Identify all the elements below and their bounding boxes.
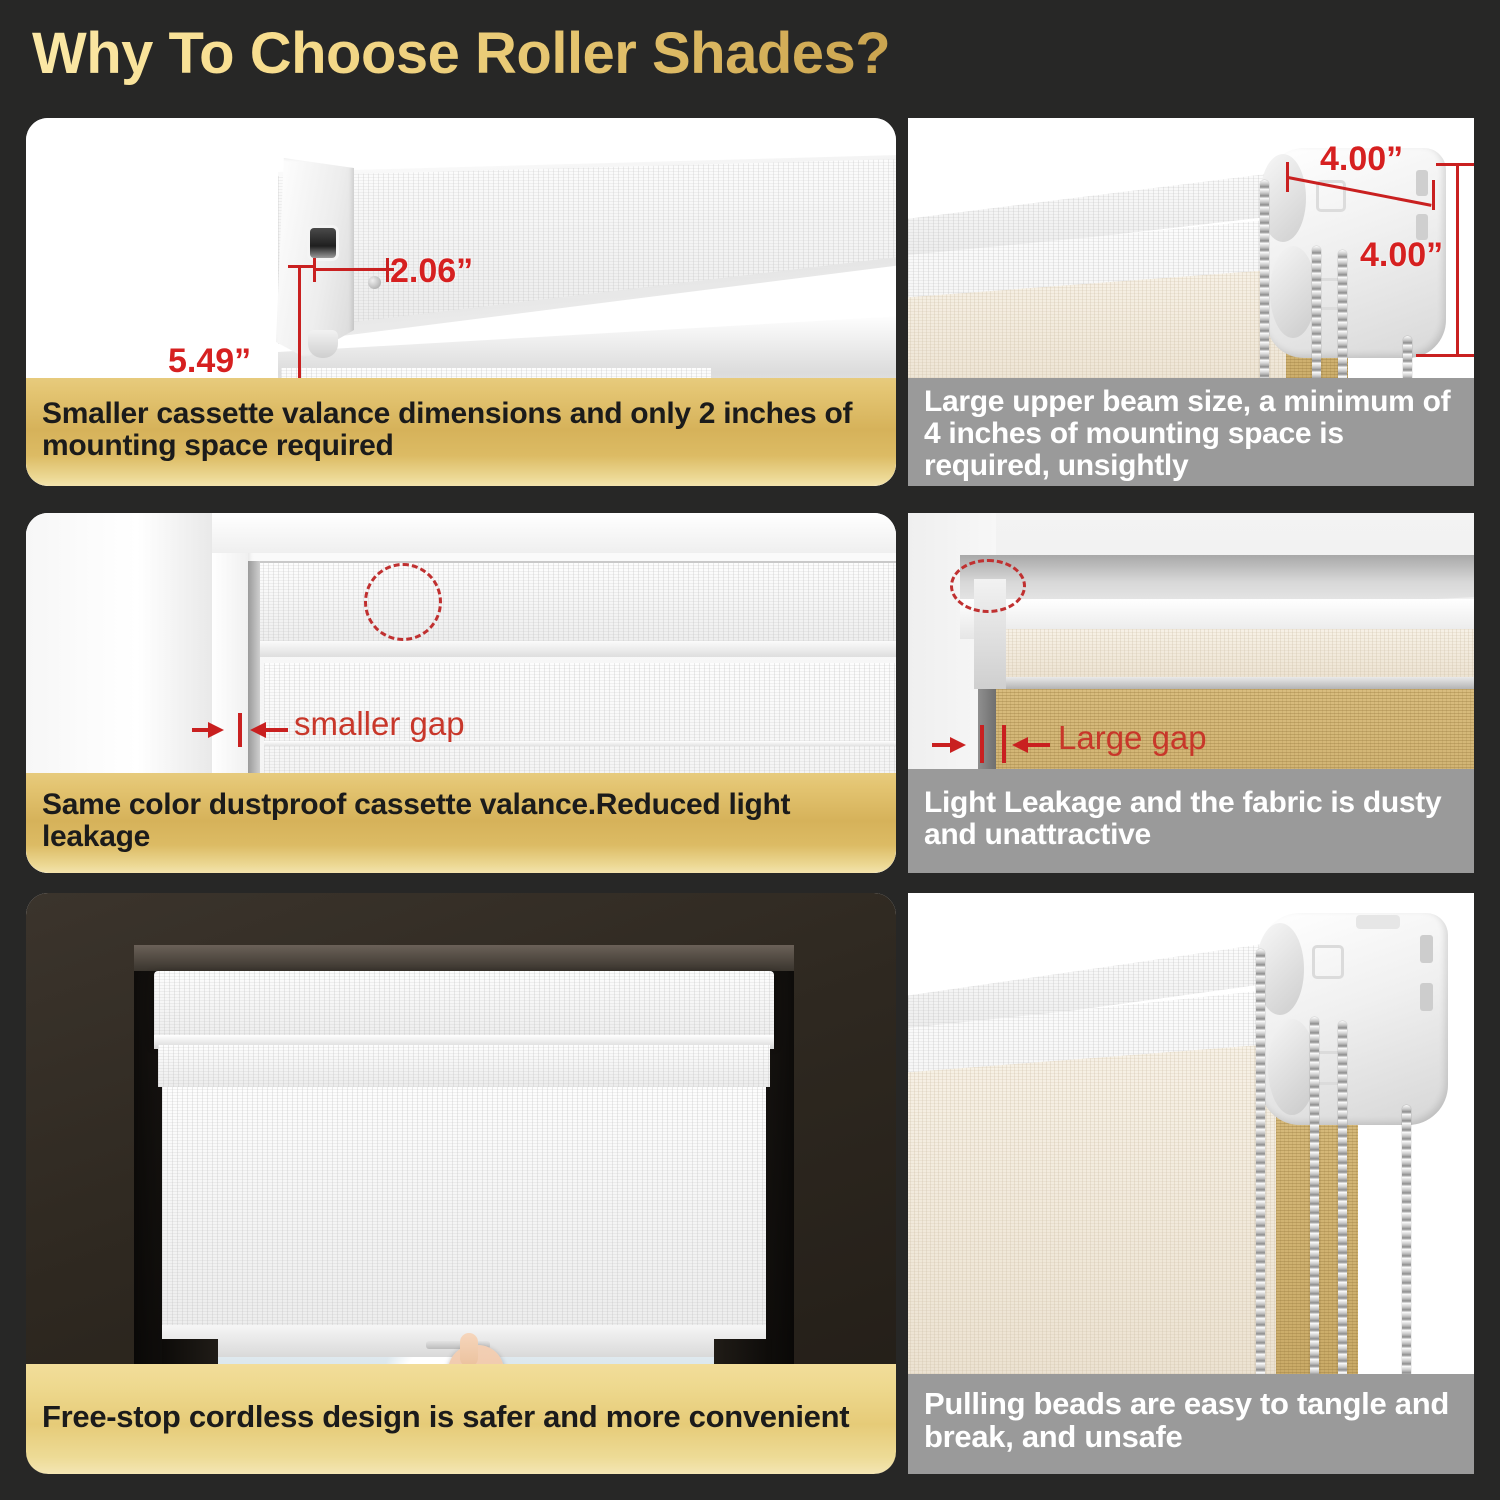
width-dimension-label: 2.06” xyxy=(390,252,473,291)
gap-bar-1 xyxy=(980,725,984,763)
end-cap-screw-icon xyxy=(368,276,381,289)
panel-dustproof-cassette-valance: smaller gap Same color dustproof cassett… xyxy=(26,513,896,873)
gap-stem-1 xyxy=(192,728,212,732)
dashed-circle-callout xyxy=(364,563,442,641)
caption-text: Smaller cassette valance dimensions and … xyxy=(42,398,882,462)
gap-callout-label: smaller gap xyxy=(294,705,465,743)
cream-fabric xyxy=(908,1043,1288,1383)
end-cap-slot-icon xyxy=(310,228,336,258)
beam-height-dim-line xyxy=(1456,164,1459,356)
infographic-page: Why To Choose Roller Shades? 2.06” xyxy=(0,0,1500,1500)
caption-text: Light Leakage and the fabric is dusty an… xyxy=(924,787,1460,851)
beam-width-tick-right xyxy=(1432,180,1435,210)
width-dim-tick-right xyxy=(386,258,389,282)
cream-band xyxy=(988,629,1474,681)
end-cap-lower-knob-icon xyxy=(308,330,338,358)
bead-chain-4 xyxy=(1402,1105,1411,1385)
gap-stem-2 xyxy=(1028,743,1050,747)
caption-large-upper-beam: Large upper beam size, a minimum of 4 in… xyxy=(908,378,1474,486)
gap-arrow-left-icon xyxy=(250,722,266,738)
caption-dustproof-cassette-valance: Same color dustproof cassette valance.Re… xyxy=(26,773,896,873)
width-dim-line xyxy=(314,268,394,271)
metal-rail xyxy=(988,677,1474,689)
cassette-valance xyxy=(258,561,896,653)
caption-text: Free-stop cordless design is safer and m… xyxy=(42,1401,849,1434)
caption-pulling-beads: Pulling beads are easy to tangle and bre… xyxy=(908,1374,1474,1474)
roller-end-lower xyxy=(1270,246,1316,338)
beam-height-tick-bottom xyxy=(1416,354,1474,357)
gap-stem-2 xyxy=(266,728,288,732)
bracket-clip-icon-upper xyxy=(1312,945,1344,979)
caption-text: Large upper beam size, a minimum of 4 in… xyxy=(924,386,1460,481)
valance-lower-band xyxy=(158,1045,770,1087)
gap-stem-1 xyxy=(932,743,954,747)
window-reveal-top xyxy=(134,945,794,971)
valance-bottom-lip xyxy=(258,641,896,657)
gap-bar-2 xyxy=(1002,725,1006,763)
beam-width-tick-left xyxy=(1286,162,1289,192)
panel-smaller-cassette-valance: 2.06” 5.49” Smaller cassette valance dim… xyxy=(26,118,896,486)
panel-light-leakage: Large gap Light Leakage and the fabric i… xyxy=(908,513,1474,873)
caption-text: Pulling beads are easy to tangle and bre… xyxy=(924,1388,1460,1454)
height-dim-tick-top xyxy=(288,265,316,268)
caption-text: Same color dustproof cassette valance.Re… xyxy=(42,789,882,853)
panel-pulling-beads: Pulling beads are easy to tangle and bre… xyxy=(908,893,1474,1474)
bead-chain-1 xyxy=(1260,180,1269,410)
finger xyxy=(460,1333,478,1367)
width-dim-tick-left xyxy=(313,258,316,282)
bead-chain-3 xyxy=(1338,1021,1347,1385)
valance-header xyxy=(154,971,774,1043)
gap-arrow-left-icon xyxy=(1012,737,1028,753)
gap-bar-1 xyxy=(238,713,242,747)
height-dimension-label: 5.49” xyxy=(168,342,251,381)
gap-callout-label: Large gap xyxy=(1058,719,1207,757)
beam-height-tick-top xyxy=(1436,163,1474,166)
bead-chain-1 xyxy=(1256,949,1265,1385)
caption-free-stop-cordless: Free-stop cordless design is safer and m… xyxy=(26,1364,896,1474)
bracket-slot-icon-bottom xyxy=(1420,983,1433,1011)
panel-free-stop-cordless: Free-stop cordless design is safer and m… xyxy=(26,893,896,1474)
beam-height-dimension-label: 4.00” xyxy=(1360,236,1443,275)
dashed-circle-callout xyxy=(950,559,1026,613)
bead-chain-2 xyxy=(1310,1017,1319,1385)
bracket-slot-icon-top xyxy=(1420,935,1433,963)
page-title: Why To Choose Roller Shades? xyxy=(32,20,890,87)
caption-light-leakage: Light Leakage and the fabric is dusty an… xyxy=(908,769,1474,873)
beam-width-dimension-label: 4.00” xyxy=(1320,140,1403,179)
panel-large-upper-beam: 4.00” 4.00” Large upper beam size, a min… xyxy=(908,118,1474,486)
window-frame-top xyxy=(212,513,896,553)
bracket-slot-icon-top xyxy=(1416,170,1428,196)
roller-end-lower xyxy=(1268,1019,1316,1115)
shade-fabric xyxy=(162,1087,766,1339)
bracket-tab-icon xyxy=(1356,915,1400,929)
caption-smaller-cassette-valance: Smaller cassette valance dimensions and … xyxy=(26,378,896,486)
